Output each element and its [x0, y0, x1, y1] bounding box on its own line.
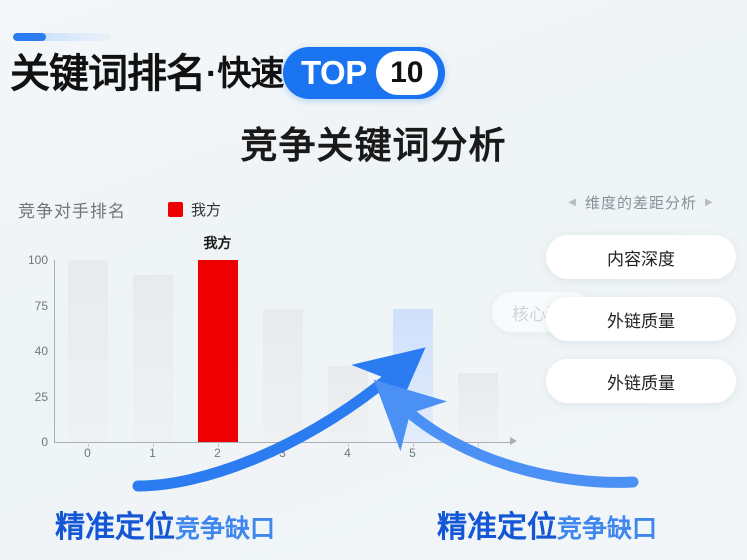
- x-axis-tick-label: 4: [344, 446, 351, 460]
- bar: [68, 260, 108, 442]
- top-rank-badge: TOP 10: [283, 47, 445, 99]
- caption-right-strong: 精准定位: [437, 502, 557, 546]
- dimension-pill[interactable]: 内容深度: [546, 235, 736, 279]
- chart-title: 竞争对手排名: [18, 197, 126, 222]
- dimension-pill-label: 外链质量: [607, 307, 675, 332]
- y-axis-tick-label: 40: [35, 344, 48, 358]
- decorative-progress-fill: [13, 33, 46, 41]
- x-axis-arrow-icon: [510, 437, 517, 445]
- chevron-left-icon[interactable]: ◀: [568, 197, 577, 208]
- chevron-right-icon[interactable]: ▶: [705, 197, 714, 208]
- bar: [263, 309, 303, 442]
- dimension-pill-label: 外链质量: [607, 369, 675, 394]
- decorative-progress-bar: [13, 33, 111, 41]
- dimension-pill-label: 内容深度: [607, 245, 675, 270]
- chart-plot-area: 我方: [55, 260, 510, 442]
- page-title: 关键词排名 · 快速: [10, 45, 283, 103]
- y-axis: 1007540250: [14, 252, 52, 442]
- x-axis-tick-label: 0: [84, 446, 91, 460]
- top-badge-number: 10: [376, 51, 438, 95]
- y-axis-tick-label: 0: [41, 435, 48, 449]
- x-axis-tick-label: 5: [474, 446, 481, 460]
- dimension-pill[interactable]: 外链质量: [546, 359, 736, 403]
- x-axis-tick-label: 3: [279, 446, 286, 460]
- page-title-sub: 快速: [217, 57, 283, 91]
- caption-right: 精准定位 竞争缺口: [437, 502, 657, 546]
- slide-canvas: 关键词排名 · 快速 TOP 10 竞争关键词分析 竞争对手排名 我方 核心词1…: [0, 0, 747, 560]
- x-axis-tick-label: 2: [214, 446, 221, 460]
- legend-label: 我方: [191, 199, 221, 220]
- chart-legend: 我方: [168, 199, 221, 220]
- chart-header: 竞争对手排名 我方: [18, 197, 221, 222]
- bar: [328, 366, 368, 442]
- bar: [133, 275, 173, 442]
- x-axis-tick-label: 5: [409, 446, 416, 460]
- y-axis-tick-label: 25: [35, 390, 48, 404]
- x-axis-tick-label: 1: [149, 446, 156, 460]
- bar: [393, 309, 433, 442]
- competitor-rank-chart: 1007540250 我方 0123455: [14, 252, 534, 467]
- bar: [458, 373, 498, 442]
- caption-left-light: 竞争缺口: [175, 509, 275, 545]
- bar-mine: 我方: [198, 260, 238, 442]
- dimension-gap-heading: ◀ 维度的差距分析 ▶: [546, 192, 736, 213]
- dimension-pill[interactable]: 外链质量: [546, 297, 736, 341]
- caption-right-light: 竞争缺口: [557, 509, 657, 545]
- y-axis-tick-label: 75: [35, 299, 48, 313]
- page-title-dot: ·: [206, 57, 216, 91]
- dimension-gap-title: 维度的差距分析: [585, 192, 697, 213]
- caption-left-strong: 精准定位: [55, 502, 175, 546]
- y-axis-tick-label: 100: [28, 253, 48, 267]
- legend-swatch-icon: [168, 202, 183, 217]
- section-title: 竞争关键词分析: [0, 115, 747, 169]
- dimension-gap-panel: ◀ 维度的差距分析 ▶ 内容深度外链质量外链质量: [546, 192, 736, 421]
- caption-left: 精准定位 竞争缺口: [55, 502, 275, 546]
- page-title-main: 关键词排名: [10, 54, 205, 94]
- bar-mine-label: 我方: [204, 233, 232, 253]
- top-badge-word: TOP: [301, 54, 367, 92]
